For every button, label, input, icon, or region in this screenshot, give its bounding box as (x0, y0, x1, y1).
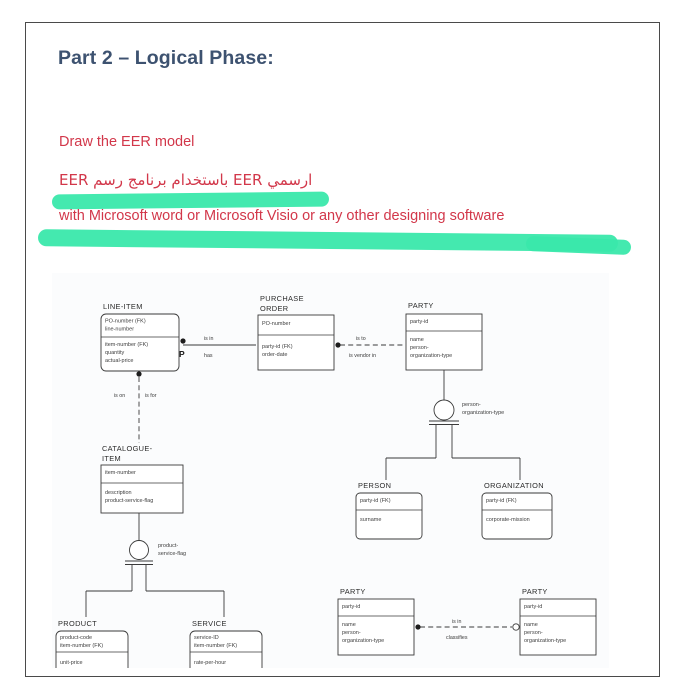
cardinality-dot-filled (180, 338, 185, 343)
entity-product-key-1: item-number (FK) (60, 643, 103, 649)
entity-organization-attr-0: corporate-mission (486, 517, 530, 523)
page-title: Part 2 – Logical Phase: (58, 47, 274, 70)
relationship-label-is-vendor-in: is vendor in (349, 353, 376, 359)
entity-party-top-attr-1: person- (410, 345, 429, 351)
entity-line-item-key-0: PO-number (FK) (105, 319, 146, 325)
relationship-label-has: has (204, 353, 213, 359)
cardinality-dot-filled-po (335, 342, 340, 347)
entity-party-top-key-0: party-id (410, 319, 428, 325)
subtype-circle-catalogue (130, 541, 149, 560)
subtype-label-party-line2: organization-type (462, 410, 504, 416)
instruction-line-3: with Microsoft word or Microsoft Visio o… (59, 208, 504, 224)
entity-party-top-title: PARTY (408, 301, 434, 310)
cardinality-dot-filled-li (136, 371, 141, 376)
entity-purchase-order: PURCHASE ORDER PO-number party-id (FK) o… (258, 294, 334, 370)
entity-purchase-order-attr-0: party-id (FK) (262, 344, 293, 350)
entity-purchase-order-attr-1: order-date (262, 352, 287, 358)
relationship-label-is-on: is on (114, 393, 125, 399)
entity-person-attr-0: surname (360, 517, 381, 523)
entity-catalogue-item-title-line2: ITEM (102, 454, 121, 463)
entity-organization-key-0: party-id (FK) (486, 498, 517, 504)
subtype-label-party-line1: person- (462, 402, 481, 408)
eer-diagram: LINE-ITEM PO-number (FK) line-number ite… (52, 273, 609, 668)
relationship-line-item-purchase-order: P is in has (179, 336, 256, 359)
entity-party-right-attr-0: name (524, 622, 538, 628)
entity-catalogue-item-title-line1: CATALOGUE- (102, 444, 153, 453)
subtype-label-catalogue-line2: service-flag (158, 551, 186, 557)
entity-person-key-0: party-id (FK) (360, 498, 391, 504)
entity-party-top: PARTY party-id name person- organization… (406, 301, 482, 370)
entity-service-key-1: item-number (FK) (194, 643, 237, 649)
entity-product-attr-0: unit-price (60, 660, 83, 666)
relationship-label-is-to: is to (356, 336, 366, 342)
entity-purchase-order-title-line2: ORDER (260, 304, 288, 313)
entity-purchase-order-key-0: PO-number (262, 321, 291, 327)
entity-line-item-title: LINE-ITEM (103, 302, 143, 311)
entity-purchase-order-title-line1: PURCHASE (260, 294, 304, 303)
entity-line-item-key-1: line-number (105, 327, 134, 333)
entity-organization: ORGANIZATION party-id (FK) corporate-mis… (482, 481, 552, 539)
entity-product-key-0: product-code (60, 635, 92, 641)
entity-party-left: PARTY party-id name person- organization… (338, 587, 414, 655)
entity-person: PERSON party-id (FK) surname (356, 481, 422, 539)
entity-catalogue-item-attr-1: product-service-flag (105, 498, 153, 504)
entity-person-title: PERSON (358, 481, 391, 490)
highlighter-stroke-2-tail (526, 236, 631, 255)
highlighter-stroke-1 (52, 192, 329, 210)
entity-service-title: SERVICE (192, 619, 227, 628)
entity-line-item: LINE-ITEM PO-number (FK) line-number ite… (101, 302, 179, 371)
entity-party-left-key-0: party-id (342, 604, 360, 610)
subtype-label-catalogue-line1: product- (158, 543, 178, 549)
entity-line-item-attr-1: quantity (105, 350, 125, 356)
subtype-circle-party (434, 400, 454, 420)
entity-party-left-attr-0: name (342, 622, 356, 628)
relationship-label-is-in: is in (204, 336, 213, 342)
entity-party-top-attr-2: organization-type (410, 353, 452, 359)
entity-party-right-attr-1: person- (524, 630, 543, 636)
relationship-label-is-for: is for (145, 393, 157, 399)
entity-party-right-title: PARTY (522, 587, 548, 596)
relationship-marker-p: P (179, 349, 185, 359)
entity-service: SERVICE service-ID item-number (FK) rate… (190, 619, 262, 668)
subtype-discriminator-catalogue: product- service-flag (86, 513, 224, 617)
entity-line-item-attr-2: actual-price (105, 358, 133, 364)
entity-party-top-attr-0: name (410, 337, 424, 343)
relationship-party-party: is in classifies (415, 619, 519, 641)
entity-party-right: PARTY party-id name person- organization… (520, 587, 596, 655)
entity-party-right-key-0: party-id (524, 604, 542, 610)
document-page: Part 2 – Logical Phase: Draw the EER mod… (25, 22, 660, 677)
relationship-label-is-in-party: is in (452, 619, 461, 625)
entity-catalogue-item: CATALOGUE- ITEM item-number description … (101, 444, 183, 513)
entity-catalogue-item-attr-0: description (105, 490, 132, 496)
relationship-purchase-order-party: is to is vendor in (335, 336, 404, 359)
entity-organization-title: ORGANIZATION (484, 481, 544, 490)
entity-product: PRODUCT product-code item-number (FK) un… (56, 619, 128, 668)
entity-party-left-attr-1: person- (342, 630, 361, 636)
entity-service-key-0: service-ID (194, 635, 219, 641)
entity-service-attr-0: rate-per-hour (194, 660, 226, 666)
cardinality-dot-filled-party (415, 624, 420, 629)
relationship-line-item-catalogue-item: is on is for (114, 371, 157, 443)
cardinality-circle-open-party (513, 624, 519, 630)
entity-party-left-title: PARTY (340, 587, 366, 596)
subtype-discriminator-party: person- organization-type (386, 370, 520, 480)
entity-catalogue-item-key-0: item-number (105, 470, 136, 476)
entity-product-title: PRODUCT (58, 619, 97, 628)
entity-party-left-attr-2: organization-type (342, 638, 384, 644)
instruction-line-1: Draw the EER model (59, 134, 194, 150)
entity-line-item-attr-0: item-number (FK) (105, 342, 148, 348)
relationship-label-classifies: classifies (446, 635, 468, 641)
entity-party-right-attr-2: organization-type (524, 638, 566, 644)
instruction-line-arabic: ارسمي EER باستخدام برنامج رسم EER (59, 171, 312, 189)
